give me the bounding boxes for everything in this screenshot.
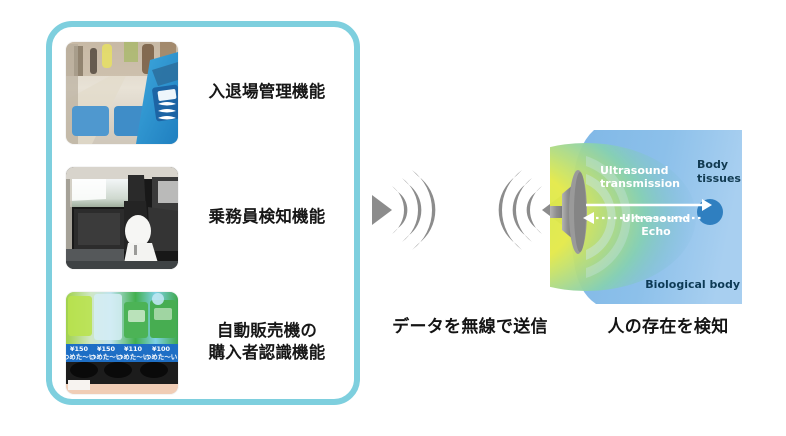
feature-label: 乗務員検知機能 bbox=[178, 207, 352, 229]
wireless-wave-right-icon bbox=[372, 170, 435, 250]
feature-label: 入退場管理機能 bbox=[178, 82, 352, 104]
svg-text:つめた〜い: つめた〜い bbox=[145, 353, 178, 361]
car-interior-photo bbox=[66, 167, 178, 269]
feature-row: 入退場管理機能 bbox=[66, 39, 352, 147]
ticket-gate-photo bbox=[66, 42, 178, 144]
detection-caption: 人の存在を検知 bbox=[578, 312, 758, 337]
svg-text:¥150: ¥150 bbox=[97, 345, 116, 353]
svg-text:¥100: ¥100 bbox=[152, 345, 171, 353]
feature-label: 自動販売機の 購入者認識機能 bbox=[178, 321, 352, 365]
feature-row: 乗務員検知機能 bbox=[66, 164, 352, 272]
wireless-transmission-group bbox=[372, 170, 562, 250]
svg-text:¥110: ¥110 bbox=[124, 345, 143, 353]
svg-text:¥150: ¥150 bbox=[70, 345, 89, 353]
features-panel: 入退場管理機能 bbox=[46, 21, 360, 405]
body-tissue-dot bbox=[697, 199, 723, 225]
vending-machine-photo: ¥150 ¥150 ¥110 ¥100 つめた〜い つめた〜い つめた〜い つめ… bbox=[66, 292, 178, 394]
feature-row: ¥150 ¥150 ¥110 ¥100 つめた〜い つめた〜い つめた〜い つめ… bbox=[66, 289, 352, 397]
biological-body-diagram: Ultrasound transmission Ultrasound Echo … bbox=[550, 126, 746, 308]
transmission-caption: データを無線で送信 bbox=[370, 312, 570, 337]
